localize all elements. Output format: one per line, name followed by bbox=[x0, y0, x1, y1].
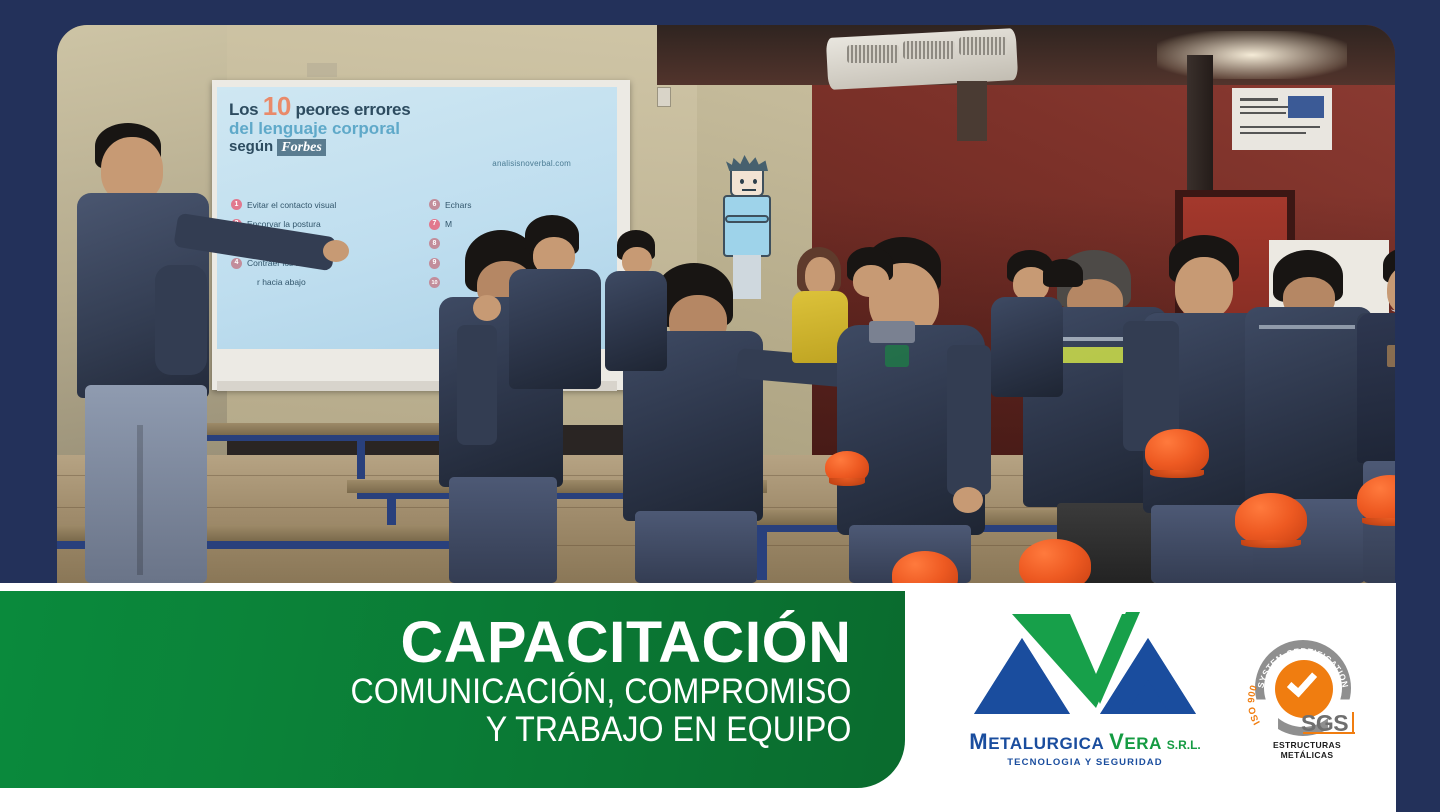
caption-banner: CAPACITACIÓN COMUNICACIÓN, COMPROMISO Y … bbox=[0, 591, 905, 788]
hard-hat bbox=[1019, 539, 1091, 583]
cartoon-body bbox=[723, 195, 771, 257]
list-label: M bbox=[445, 219, 452, 229]
uniform-logo-icon bbox=[885, 345, 909, 367]
slide-number-10: 10 bbox=[263, 91, 291, 121]
hard-hat bbox=[825, 451, 869, 483]
logo-tagline: TECNOLOGIA Y SEGURIDAD bbox=[960, 757, 1210, 768]
collar bbox=[869, 321, 915, 343]
list-item: 1Evitar el contacto visual bbox=[231, 199, 337, 210]
list-item: 6Echars bbox=[429, 199, 471, 210]
bench-leg bbox=[357, 437, 365, 479]
arm bbox=[947, 345, 991, 495]
list-number: 4 bbox=[231, 258, 242, 269]
sgs-tick-mark bbox=[1352, 712, 1354, 734]
list-number: 6 bbox=[429, 199, 440, 210]
arm bbox=[457, 325, 497, 445]
logo-company-name: METALURGICA VERA S.R.L. bbox=[960, 729, 1210, 755]
list-label: Echars bbox=[445, 200, 471, 210]
hard-hat bbox=[1235, 493, 1307, 545]
background-head bbox=[1043, 259, 1083, 287]
head bbox=[805, 257, 835, 295]
arm bbox=[155, 265, 207, 375]
training-photo: Los 10 peores errores del lenguaje corpo… bbox=[57, 25, 1395, 583]
forbes-badge: Forbes bbox=[277, 139, 325, 156]
leg-seam bbox=[137, 425, 143, 575]
list-number: 10 bbox=[429, 277, 440, 288]
torso bbox=[509, 269, 601, 389]
svg-text:ISO 9001: ISO 9001 bbox=[1247, 636, 1263, 726]
light-switch bbox=[657, 87, 671, 107]
wall-sign bbox=[307, 63, 337, 77]
slide-title-line1: Los 10 peores errores bbox=[229, 97, 605, 119]
list-number: 8 bbox=[429, 238, 440, 249]
legs bbox=[635, 511, 757, 583]
list-number: 9 bbox=[429, 258, 440, 269]
cartoon-legs bbox=[733, 255, 761, 299]
hand bbox=[323, 240, 349, 262]
list-number: 1 bbox=[231, 199, 242, 210]
sgs-underline bbox=[1303, 732, 1355, 734]
company-logo: METALURGICA VERA S.R.L. TECNOLOGIA Y SEG… bbox=[960, 608, 1210, 768]
certification-scope: ESTRUCTURAS METÁLICAS bbox=[1247, 740, 1367, 760]
slide-title-line2: del lenguaje corporal bbox=[229, 119, 605, 138]
page-title: CAPACITACIÓN bbox=[296, 613, 851, 673]
ceiling-lamp-glow bbox=[1157, 31, 1347, 79]
hard-hat bbox=[1145, 429, 1209, 475]
cartoon-arms bbox=[725, 215, 769, 223]
sgs-certification-badge: SYSTEM CERTIFICATION ISO 9001 SGS ESTRUC… bbox=[1247, 636, 1367, 761]
ceiling-beam bbox=[957, 81, 987, 141]
hand bbox=[953, 487, 983, 513]
legs bbox=[85, 385, 207, 583]
page-subtitle-line1: COMUNICACIÓN, COMPROMISO bbox=[350, 673, 851, 711]
uniform-text bbox=[1259, 325, 1355, 329]
slide-title-line3: según Forbes bbox=[229, 138, 605, 156]
list-item: r hacia abajo bbox=[231, 277, 337, 287]
ac-vent bbox=[847, 45, 899, 63]
background-torso bbox=[991, 297, 1063, 397]
tshirt-graphic bbox=[1387, 345, 1395, 367]
list-number: 7 bbox=[429, 219, 440, 230]
bench-seat bbox=[187, 423, 457, 435]
page-subtitle-line2: Y TRABAJO EN EQUIPO bbox=[350, 711, 851, 749]
list-item: 8 bbox=[429, 238, 471, 249]
logo-wordmark: METALURGICA VERA S.R.L. TECNOLOGIA Y SEG… bbox=[960, 729, 1210, 768]
ac-vent bbox=[959, 37, 1007, 55]
list-label: r hacia abajo bbox=[257, 277, 306, 287]
list-label: Evitar el contacto visual bbox=[247, 200, 336, 210]
logo-mark-icon bbox=[960, 608, 1210, 720]
bench-leg bbox=[757, 530, 767, 580]
ac-vent bbox=[903, 41, 955, 59]
head bbox=[1175, 257, 1233, 319]
torso bbox=[1245, 307, 1373, 503]
legs bbox=[449, 477, 557, 583]
bench-frame bbox=[187, 435, 457, 441]
torso bbox=[1357, 313, 1395, 463]
page-background: Los 10 peores errores del lenguaje corpo… bbox=[0, 0, 1440, 812]
banner-text-block: CAPACITACIÓN COMUNICACIÓN, COMPROMISO Y … bbox=[307, 613, 851, 749]
hand bbox=[473, 295, 501, 321]
wall-poster bbox=[1232, 88, 1332, 150]
head bbox=[853, 265, 889, 297]
list-item: 7M bbox=[429, 219, 471, 230]
slide-source-url: analisisnoverbal.com bbox=[492, 159, 571, 168]
torso bbox=[605, 271, 667, 371]
